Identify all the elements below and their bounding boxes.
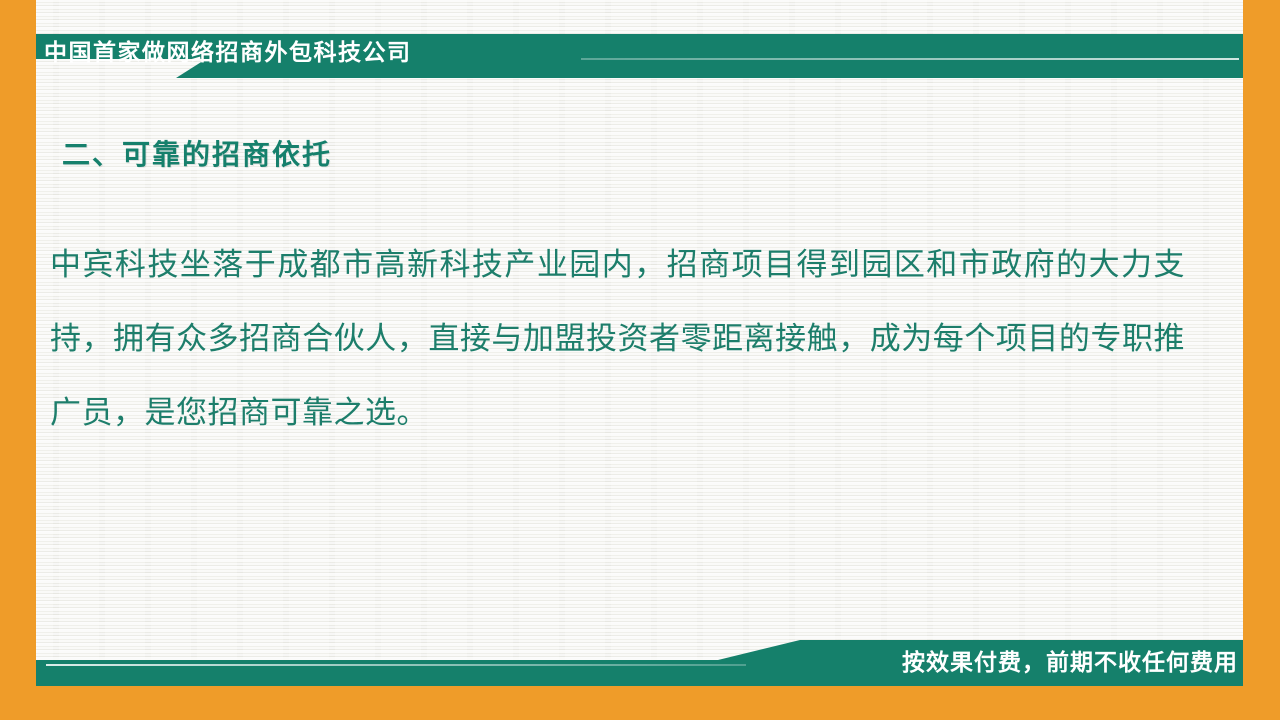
- slide-canvas: 中国首家做网络招商外包科技公司 二、可靠的招商依托 中宾科技坐落于成都市高新科技…: [0, 0, 1280, 720]
- footer-hairline-divider: [46, 664, 746, 666]
- header-title: 中国首家做网络招商外包科技公司: [44, 37, 412, 67]
- header-hairline-divider: [581, 58, 1239, 60]
- body-paragraph: 中宾科技坐落于成都市高新科技产业园内，招商项目得到园区和市政府的大力支持，拥有众…: [50, 228, 1185, 450]
- footer-tagline: 按效果付费，前期不收任何费用: [902, 646, 1238, 678]
- page-title: 二、可靠的招商依托: [62, 135, 332, 175]
